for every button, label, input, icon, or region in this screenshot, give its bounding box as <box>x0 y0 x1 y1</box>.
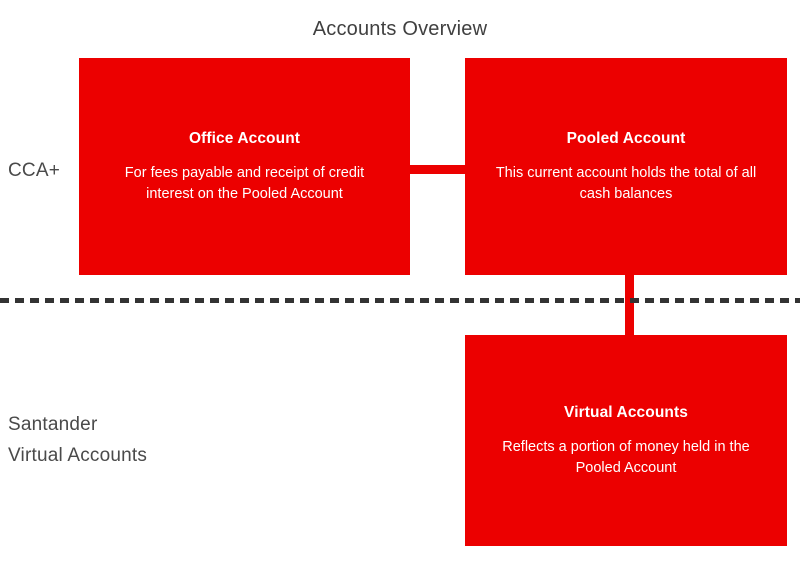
node-pooled-account-title: Pooled Account <box>567 129 686 149</box>
node-pooled-account-description: This current account holds the total of … <box>481 163 771 205</box>
node-office-account: Office Account For fees payable and rece… <box>79 58 410 275</box>
node-virtual-accounts-title: Virtual Accounts <box>564 403 688 423</box>
section-divider-dashed-line <box>0 298 800 303</box>
node-office-account-title: Office Account <box>189 129 300 149</box>
connector-pooled-to-virtual <box>625 270 634 340</box>
node-virtual-accounts-description: Reflects a portion of money held in the … <box>481 437 771 479</box>
page-title: Accounts Overview <box>0 16 800 42</box>
section-label-santander-virtual-accounts: Santander Virtual Accounts <box>8 409 238 471</box>
node-office-account-description: For fees payable and receipt of credit i… <box>100 163 390 205</box>
connector-office-to-pooled <box>405 165 467 174</box>
section-label-cca-plus: CCA+ <box>8 155 78 186</box>
diagram-canvas: Accounts Overview Office Account For fee… <box>0 0 800 564</box>
node-pooled-account: Pooled Account This current account hold… <box>465 58 787 275</box>
node-virtual-accounts: Virtual Accounts Reflects a portion of m… <box>465 335 787 546</box>
